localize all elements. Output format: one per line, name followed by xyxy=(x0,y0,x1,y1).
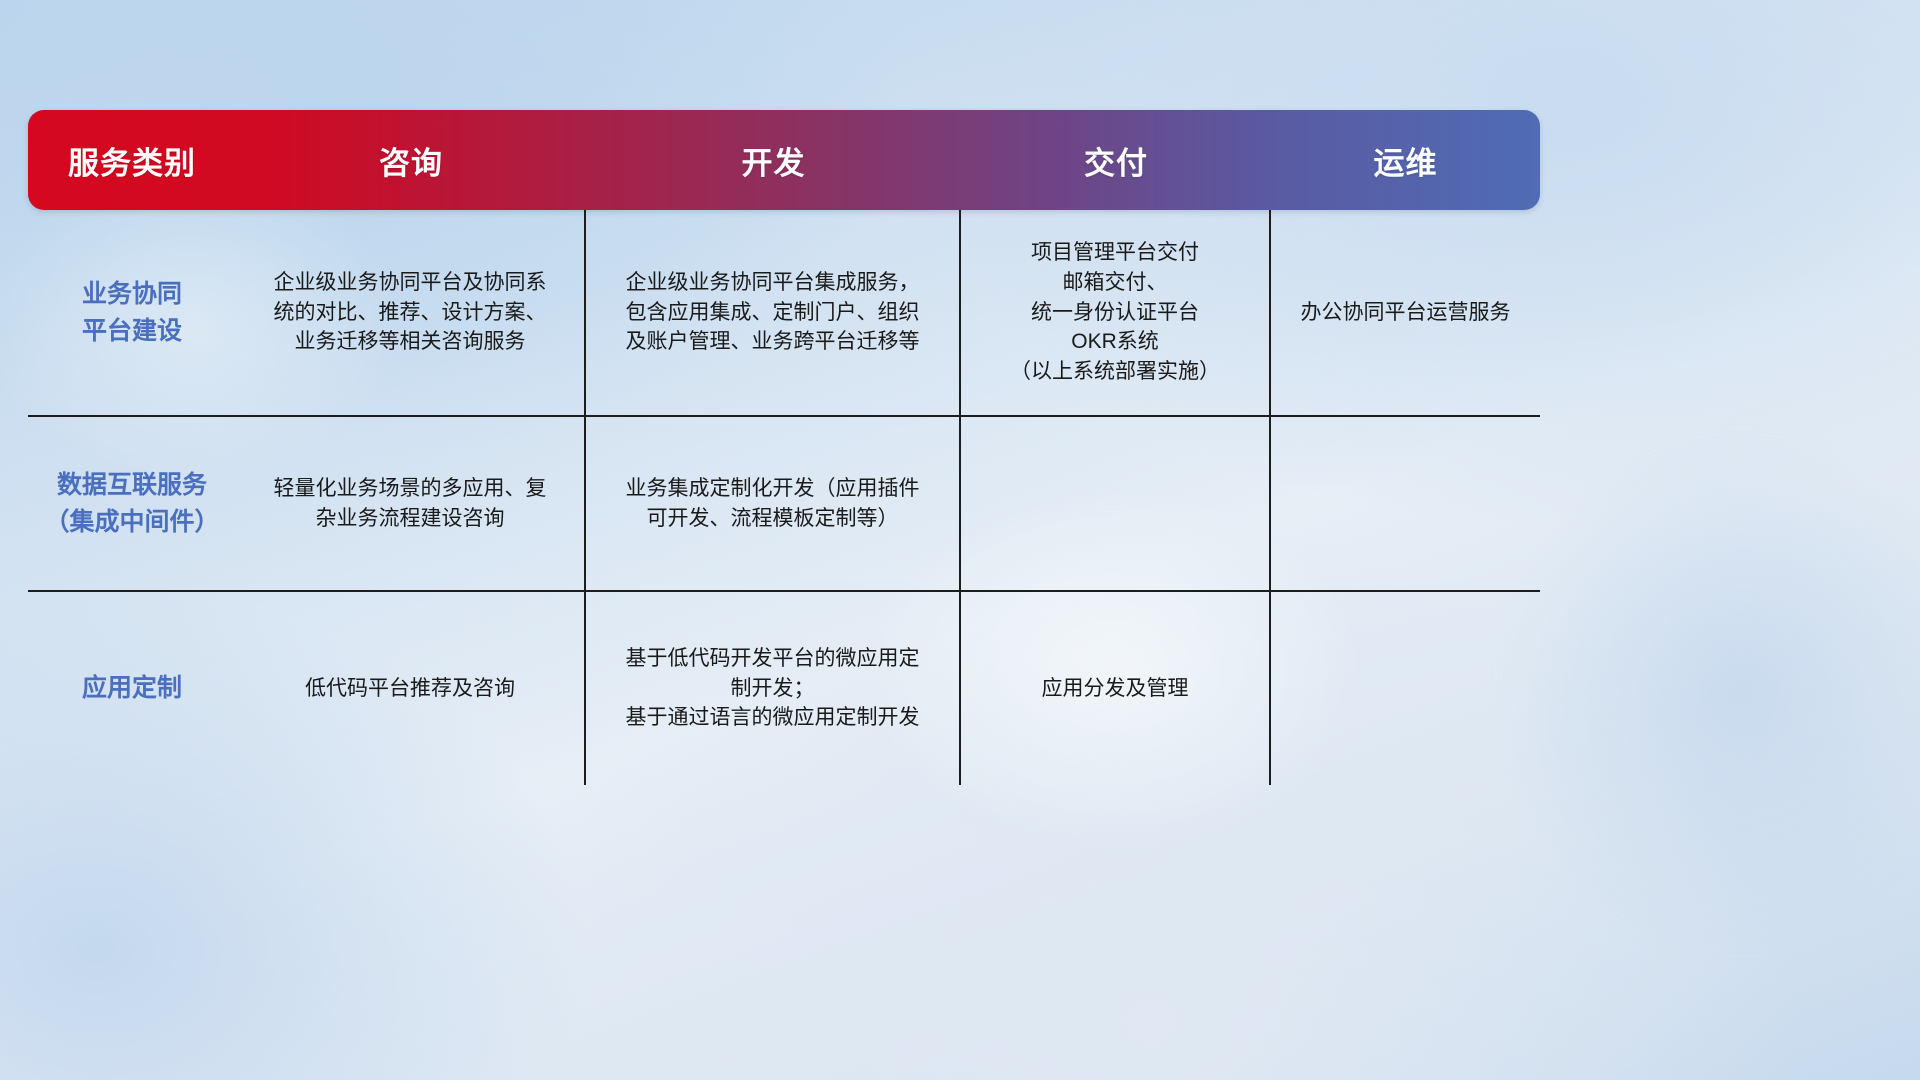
service-matrix-table: 服务类别 咨询 开发 交付 运维 业务协同 平台建设 企业级业务协同平台及协同系… xyxy=(28,110,1540,785)
cell-development: 业务集成定制化开发（应用插件 可开发、流程模板定制等） xyxy=(586,417,961,590)
cell-text: 应用分发及管理 xyxy=(1042,674,1189,704)
cell-text: 项目管理平台交付 邮箱交付、 统一身份认证平台 OKR系统 （以上系统部署实施） xyxy=(1010,238,1220,387)
table-header-row: 服务类别 咨询 开发 交付 运维 xyxy=(28,110,1540,210)
cell-consulting: 轻量化业务场景的多应用、复 杂业务流程建设咨询 xyxy=(236,417,586,590)
row-category-cell: 业务协同 平台建设 xyxy=(28,210,236,415)
cell-text: 应用定制 xyxy=(82,670,182,706)
row-category-cell: 应用定制 xyxy=(28,592,236,785)
cell-text: 业务协同 平台建设 xyxy=(82,276,182,349)
cell-text: 企业级业务协同平台集成服务， 包含应用集成、定制门户、组织 及账户管理、业务跨平… xyxy=(626,268,920,357)
cell-development: 企业级业务协同平台集成服务， 包含应用集成、定制门户、组织 及账户管理、业务跨平… xyxy=(586,210,961,415)
cell-text: 低代码平台推荐及咨询 xyxy=(305,674,515,704)
cell-consulting: 低代码平台推荐及咨询 xyxy=(236,592,586,785)
background-bloom-right xyxy=(1500,432,1920,952)
table-row: 数据互联服务 （集成中间件） 轻量化业务场景的多应用、复 杂业务流程建设咨询 业… xyxy=(28,415,1540,590)
column-header-category: 服务类别 xyxy=(28,110,236,210)
cell-text: 基于低代码开发平台的微应用定 制开发； 基于通过语言的微应用定制开发 xyxy=(626,644,920,733)
column-header-label: 开发 xyxy=(742,138,806,183)
table-row: 业务协同 平台建设 企业级业务协同平台及协同系 统的对比、推荐、设计方案、 业务… xyxy=(28,210,1540,415)
cell-operations: 办公协同平台运营服务 xyxy=(1271,210,1540,415)
cell-text: 轻量化业务场景的多应用、复 杂业务流程建设咨询 xyxy=(274,474,547,534)
cell-delivery: 应用分发及管理 xyxy=(961,592,1271,785)
table-row: 应用定制 低代码平台推荐及咨询 基于低代码开发平台的微应用定 制开发； 基于通过… xyxy=(28,590,1540,785)
cell-text: 业务集成定制化开发（应用插件 可开发、流程模板定制等） xyxy=(626,474,920,534)
column-header-delivery: 交付 xyxy=(961,110,1271,210)
cell-operations xyxy=(1271,417,1540,590)
cell-text: 办公协同平台运营服务 xyxy=(1301,298,1511,328)
column-header-consulting: 咨询 xyxy=(236,110,586,210)
row-category-cell: 数据互联服务 （集成中间件） xyxy=(28,417,236,590)
table-body: 业务协同 平台建设 企业级业务协同平台及协同系 统的对比、推荐、设计方案、 业务… xyxy=(28,210,1540,785)
column-header-label: 交付 xyxy=(1084,138,1148,183)
column-header-operations: 运维 xyxy=(1271,110,1540,210)
cell-development: 基于低代码开发平台的微应用定 制开发； 基于通过语言的微应用定制开发 xyxy=(586,592,961,785)
cell-text: 企业级业务协同平台及协同系 统的对比、推荐、设计方案、 业务迁移等相关咨询服务 xyxy=(274,268,547,357)
cell-delivery: 项目管理平台交付 邮箱交付、 统一身份认证平台 OKR系统 （以上系统部署实施） xyxy=(961,210,1271,415)
cell-operations xyxy=(1271,592,1540,785)
cell-consulting: 企业级业务协同平台及协同系 统的对比、推荐、设计方案、 业务迁移等相关咨询服务 xyxy=(236,210,586,415)
cell-delivery xyxy=(961,417,1271,590)
cell-text: 数据互联服务 （集成中间件） xyxy=(44,467,219,540)
column-header-label: 服务类别 xyxy=(68,138,196,183)
column-header-development: 开发 xyxy=(586,110,961,210)
column-header-label: 运维 xyxy=(1374,138,1438,183)
column-header-label: 咨询 xyxy=(379,138,443,183)
